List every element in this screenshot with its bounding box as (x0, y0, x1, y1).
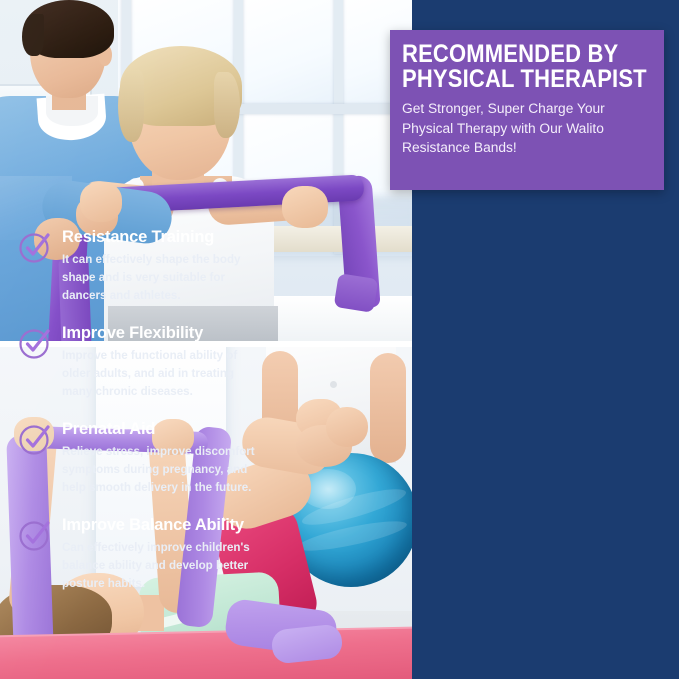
check-circle-icon (18, 422, 52, 456)
feature-description: Relieve stress, improve discomfort sympt… (62, 443, 258, 497)
headline-banner: RECOMMENDED BY PHYSICAL THERAPIST Get St… (390, 30, 664, 190)
feature-item-resistance-training: Resistance Training It can effectively s… (12, 228, 261, 305)
headline-subtitle: Get Stronger, Super Charge Your Physical… (402, 100, 643, 159)
feature-description: Can effectively improve children's balan… (62, 539, 258, 593)
therapist-arm-right (370, 353, 406, 463)
feature-description: Improve the functional ability of older … (62, 347, 258, 401)
feature-item-improve-balance-ability: Improve Balance Ability Can effectively … (12, 516, 261, 593)
headline-line-1: RECOMMENDED BY (402, 42, 620, 67)
resistance-band-tail-right-lower (334, 273, 379, 313)
product-infographic: RECOMMENDED BY PHYSICAL THERAPIST Get St… (0, 0, 679, 679)
check-circle-icon (18, 326, 52, 360)
check-circle-icon (18, 518, 52, 552)
therapist-hair-side (22, 14, 44, 56)
feature-title: Resistance Training (62, 228, 261, 246)
window-pane (242, 0, 334, 104)
feature-item-improve-flexibility: Improve Flexibility Improve the function… (12, 324, 261, 401)
feature-title: Improve Flexibility (62, 324, 261, 342)
headline-line-2: PHYSICAL THERAPIST (402, 67, 620, 92)
patient-hand-right (282, 186, 328, 228)
patient-hair-left (118, 70, 144, 142)
uniform-button (330, 381, 337, 388)
therapist-hand-on-foot (326, 407, 368, 447)
check-circle-icon (18, 230, 52, 264)
feature-title: Prenatal Aid (62, 420, 261, 438)
feature-item-prenatal-aid: Prenatal Aid Relieve stress, improve dis… (12, 420, 261, 497)
feature-title: Improve Balance Ability (62, 516, 261, 534)
patient-hair-right (214, 72, 240, 138)
pink-yoga-mat (0, 629, 412, 679)
patient-hand-left (80, 182, 122, 222)
feature-list: Resistance Training It can effectively s… (0, 228, 267, 612)
feature-description: It can effectively shape the body shape … (62, 251, 258, 305)
